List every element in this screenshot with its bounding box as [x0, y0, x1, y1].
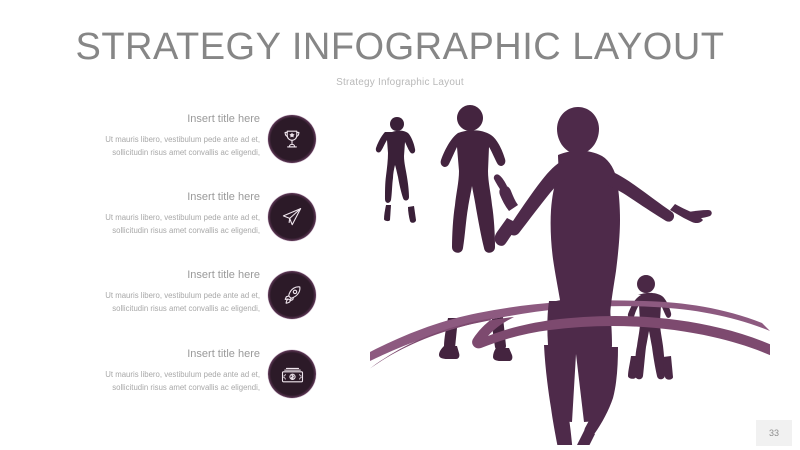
- rocket-icon: [280, 283, 304, 307]
- item-body-line: Ut mauris libero, vestibulum pede ante a…: [55, 289, 260, 302]
- item-body-line: sollicitudin risus amet convallis ac eli…: [55, 224, 260, 237]
- list-item[interactable]: Insert title here Ut mauris libero, vest…: [55, 347, 325, 417]
- item-body: Ut mauris libero, vestibulum pede ante a…: [55, 133, 260, 159]
- item-text-block: Insert title here Ut mauris libero, vest…: [55, 268, 260, 315]
- item-body: Ut mauris libero, vestibulum pede ante a…: [55, 211, 260, 237]
- item-body-line: sollicitudin risus amet convallis ac eli…: [55, 146, 260, 159]
- list-item[interactable]: Insert title here Ut mauris libero, vest…: [55, 268, 325, 338]
- item-icon-badge[interactable]: [268, 193, 316, 241]
- item-title: Insert title here: [55, 268, 260, 282]
- money-icon: [280, 362, 305, 387]
- item-body-line: Ut mauris libero, vestibulum pede ante a…: [55, 211, 260, 224]
- item-body-line: Ut mauris libero, vestibulum pede ante a…: [55, 133, 260, 146]
- item-title: Insert title here: [55, 112, 260, 126]
- item-body-line: sollicitudin risus amet convallis ac eli…: [55, 381, 260, 394]
- item-text-block: Insert title here Ut mauris libero, vest…: [55, 347, 260, 394]
- runner-winner: [494, 107, 712, 445]
- item-body: Ut mauris libero, vestibulum pede ante a…: [55, 368, 260, 394]
- item-icon-badge[interactable]: [268, 271, 316, 319]
- item-title: Insert title here: [55, 190, 260, 204]
- runners-finish-line-silhouette: [370, 95, 770, 445]
- item-icon-badge[interactable]: [268, 115, 316, 163]
- item-text-block: Insert title here Ut mauris libero, vest…: [55, 190, 260, 237]
- list-item[interactable]: Insert title here Ut mauris libero, vest…: [55, 190, 325, 260]
- trophy-icon: [280, 127, 304, 151]
- page-title: STRATEGY INFOGRAPHIC LAYOUT: [0, 26, 800, 69]
- page-subtitle: Strategy Infographic Layout: [0, 77, 800, 88]
- slide-canvas: STRATEGY INFOGRAPHIC LAYOUT Strategy Inf…: [0, 0, 800, 450]
- item-body-line: Ut mauris libero, vestibulum pede ante a…: [55, 368, 260, 381]
- item-body-line: sollicitudin risus amet convallis ac eli…: [55, 302, 260, 315]
- page-number-badge: 33: [756, 420, 792, 446]
- item-text-block: Insert title here Ut mauris libero, vest…: [55, 112, 260, 159]
- paper-plane-icon: [280, 205, 304, 229]
- item-icon-badge[interactable]: [268, 350, 316, 398]
- item-title: Insert title here: [55, 347, 260, 361]
- list-item[interactable]: Insert title here Ut mauris libero, vest…: [55, 112, 325, 182]
- item-body: Ut mauris libero, vestibulum pede ante a…: [55, 289, 260, 315]
- runner-background-left: [376, 117, 416, 223]
